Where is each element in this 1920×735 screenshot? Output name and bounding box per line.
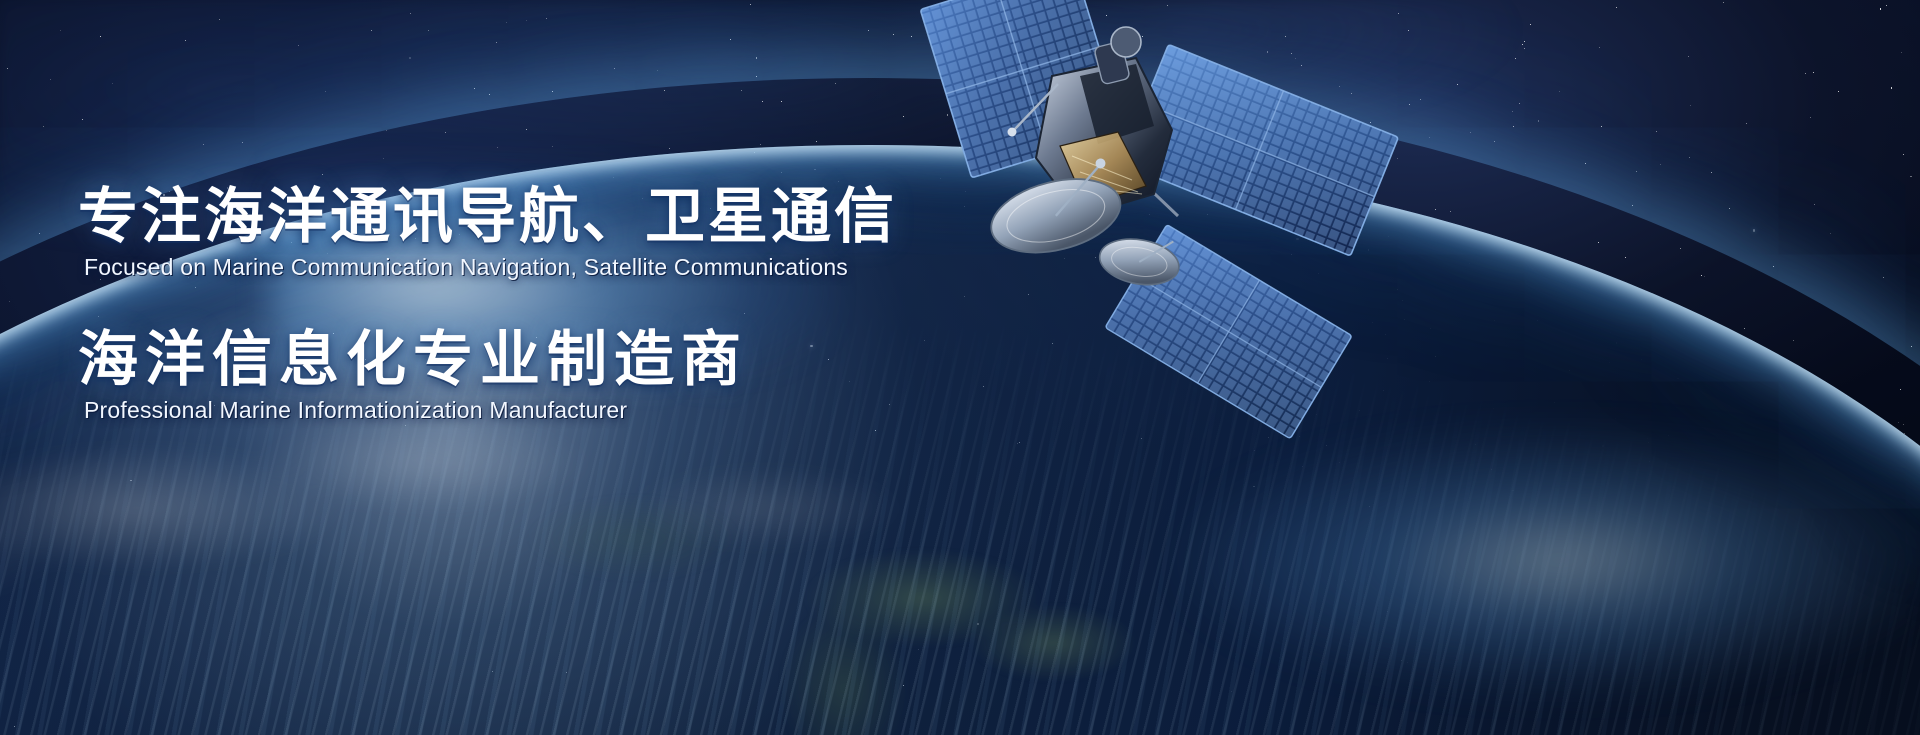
- banner-copy: 专注海洋通讯导航、卫星通信 Focused on Marine Communic…: [78, 186, 1078, 472]
- headline-primary: 专注海洋通讯导航、卫星通信: [78, 186, 1078, 248]
- headline-group-secondary: 海洋信息化专业制造商 Professional Marine Informati…: [78, 329, 1078, 424]
- headline-secondary: 海洋信息化专业制造商: [78, 329, 1078, 391]
- subline-secondary: Professional Marine Informationization M…: [84, 397, 1078, 424]
- headline-group-primary: 专注海洋通讯导航、卫星通信 Focused on Marine Communic…: [78, 186, 1078, 281]
- subline-primary: Focused on Marine Communication Navigati…: [84, 254, 1078, 281]
- hero-banner: 专注海洋通讯导航、卫星通信 Focused on Marine Communic…: [0, 0, 1920, 735]
